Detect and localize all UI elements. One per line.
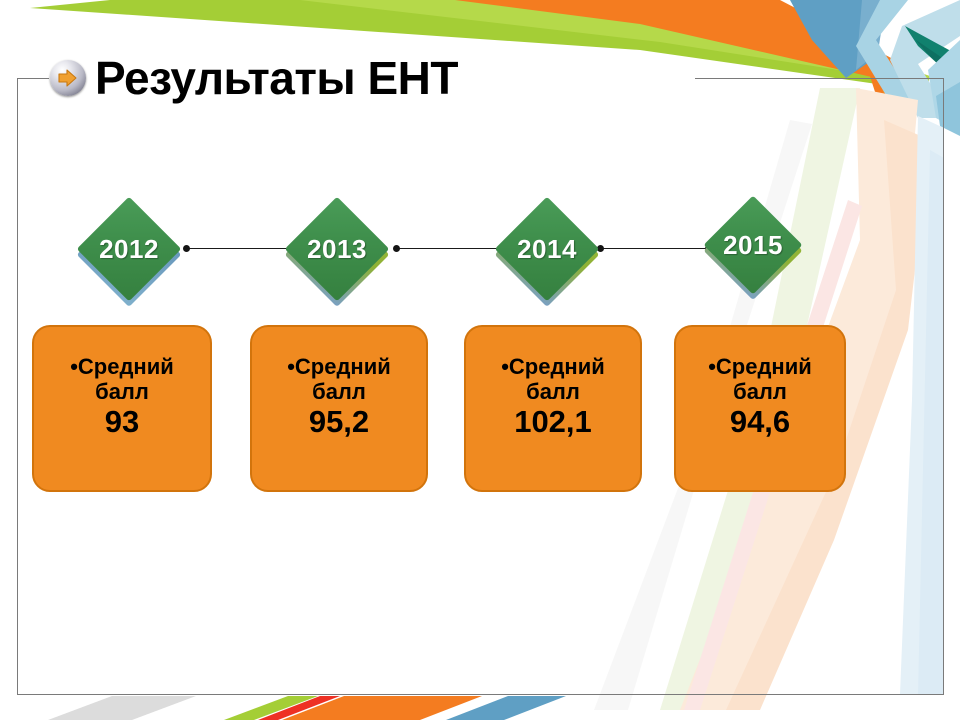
timeline-node-label: 2013: [307, 236, 367, 262]
result-card-value: 94,6: [676, 405, 844, 440]
result-card-2015[interactable]: •Средний балл 94,6: [674, 325, 846, 492]
timeline-connector-2014-2015: [600, 248, 708, 249]
result-card-value: 93: [34, 405, 210, 440]
timeline-connector-dot-c: [393, 245, 400, 252]
timeline-connector-2012-2013: [186, 248, 290, 249]
timeline-connector-dot-a: [183, 245, 190, 252]
result-card-label: •Средний балл: [34, 355, 210, 404]
timeline-node-2015[interactable]: 2015: [718, 210, 788, 280]
result-card-value: 102,1: [466, 405, 640, 440]
result-card-label: •Средний балл: [252, 355, 426, 404]
result-card-2012[interactable]: •Средний балл 93: [32, 325, 212, 492]
result-card-label: •Средний балл: [676, 355, 844, 404]
result-card-label: •Средний балл: [466, 355, 640, 404]
timeline-node-label: 2015: [723, 232, 783, 258]
timeline-node-label: 2012: [99, 236, 159, 262]
timeline-node-label: 2014: [517, 236, 577, 262]
timeline-node-2012[interactable]: 2012: [92, 212, 166, 286]
timeline-node-2013[interactable]: 2013: [300, 212, 374, 286]
timeline-connector-2013-2014: [396, 248, 500, 249]
slide-canvas: Результаты ЕНТ 2012 2013 2014: [0, 0, 960, 720]
timeline-node-2014[interactable]: 2014: [510, 212, 584, 286]
result-card-2014[interactable]: •Средний балл 102,1: [464, 325, 642, 492]
result-card-value: 95,2: [252, 405, 426, 440]
result-card-2013[interactable]: •Средний балл 95,2: [250, 325, 428, 492]
